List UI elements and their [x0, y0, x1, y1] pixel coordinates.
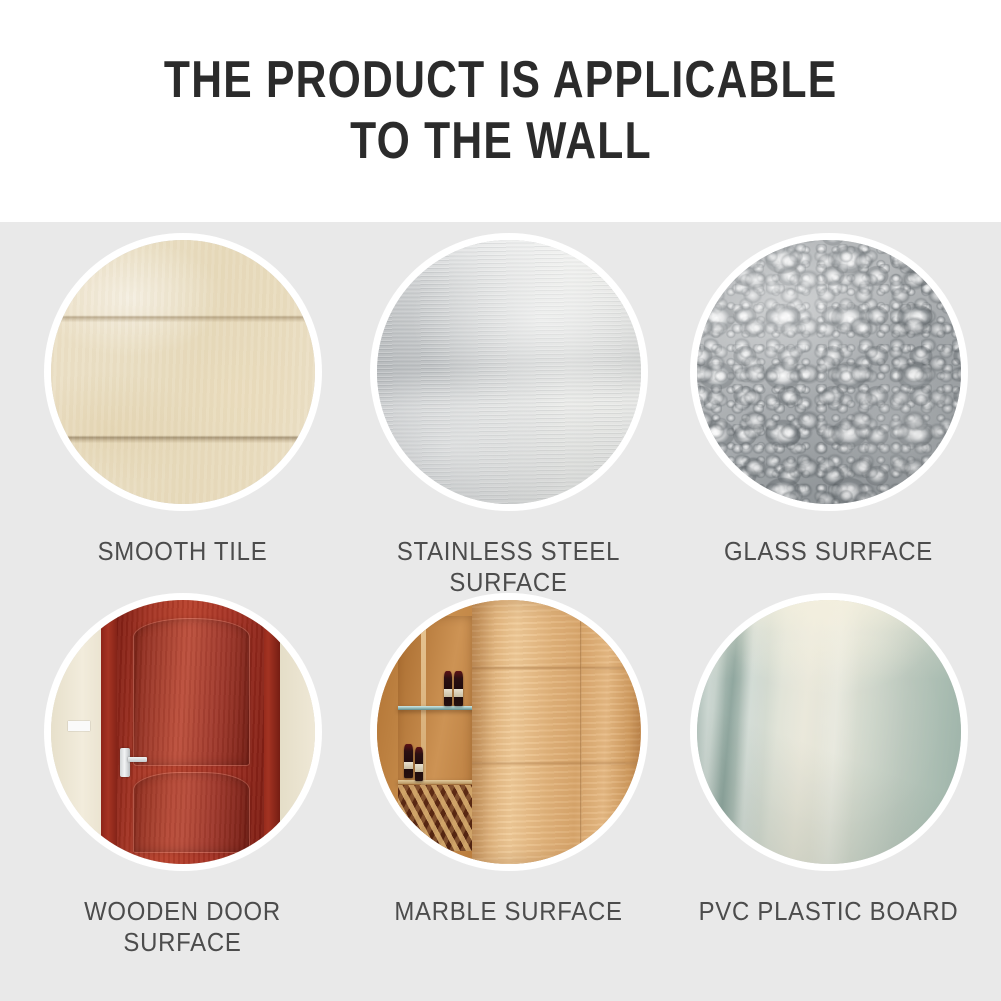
- door-slab: [117, 600, 265, 864]
- marble-column: [472, 600, 641, 864]
- marble-surface-texture: [377, 600, 641, 864]
- surface-image-wrapper: [377, 600, 641, 864]
- surface-card-wooden-door-surface: WOODEN DOOR SURFACE: [16, 600, 349, 960]
- product-infographic: THE PRODUCT IS APPLICABLE TO THE WALL SM…: [0, 0, 1001, 1001]
- gloss-vignette: [697, 600, 961, 864]
- surface-disc-stainless-steel-surface: [377, 240, 641, 504]
- surface-disc-smooth-tile: [51, 240, 315, 504]
- surface-label-marble-surface: MARBLE SURFACE: [355, 896, 661, 927]
- surface-label-wooden-door-surface: WOODEN DOOR SURFACE: [29, 896, 335, 958]
- surface-label-stainless-steel-surface: STAINLESS STEEL SURFACE: [355, 536, 661, 598]
- shelf-lower: [398, 780, 477, 785]
- surfaces-panel: SMOOTH TILE STAINLESS STEEL SURFACE: [0, 222, 1001, 1001]
- door-lever-handle: [128, 757, 146, 762]
- wine-bottle: [454, 671, 462, 705]
- page-title-line-1: THE PRODUCT IS APPLICABLE: [164, 50, 838, 111]
- glass-surface-texture: [697, 240, 961, 504]
- surface-image-wrapper: [697, 240, 961, 504]
- surface-disc-pvc-plastic-board: [697, 600, 961, 864]
- surface-card-pvc-plastic-board: PVC PLASTIC BOARD: [662, 600, 995, 960]
- surface-disc-marble-surface: [377, 600, 641, 864]
- door-handle-plate: [120, 748, 130, 777]
- wall-right: [278, 600, 315, 864]
- surface-label-smooth-tile: SMOOTH TILE: [29, 536, 335, 567]
- page-title-line-2: TO THE WALL: [350, 111, 652, 172]
- surface-disc-glass-surface: [697, 240, 961, 504]
- glass-sheen: [697, 240, 961, 504]
- surface-image-wrapper: [697, 600, 961, 864]
- wine-bottle: [404, 744, 412, 778]
- surface-label-pvc-plastic-board: PVC PLASTIC BOARD: [675, 896, 981, 927]
- surface-disc-wooden-door-surface: [51, 600, 315, 864]
- surface-image-wrapper: [51, 600, 315, 864]
- surface-card-smooth-tile: SMOOTH TILE: [16, 240, 349, 600]
- light-switch: [68, 721, 90, 731]
- surface-label-glass-surface: GLASS SURFACE: [675, 536, 981, 567]
- wine-bottle: [444, 671, 452, 705]
- wine-rack: [398, 785, 477, 851]
- surface-card-stainless-steel-surface: STAINLESS STEEL SURFACE: [342, 240, 675, 600]
- surfaces-grid: SMOOTH TILE STAINLESS STEEL SURFACE: [0, 222, 1001, 1001]
- door-panel-bottom: [133, 772, 250, 853]
- surface-image-wrapper: [377, 240, 641, 504]
- marble-column-seam: [580, 600, 582, 864]
- wall-left: [51, 600, 104, 864]
- wooden-door-texture: [51, 600, 315, 864]
- smooth-tile-texture: [51, 240, 315, 504]
- surface-card-marble-surface: MARBLE SURFACE: [342, 600, 675, 960]
- surface-image-wrapper: [51, 240, 315, 504]
- header: THE PRODUCT IS APPLICABLE TO THE WALL: [0, 0, 1001, 222]
- glass-shelf-upper: [398, 706, 477, 711]
- door-panel-top: [133, 618, 250, 765]
- stainless-steel-texture: [377, 240, 641, 504]
- surface-card-glass-surface: GLASS SURFACE: [662, 240, 995, 600]
- wine-bottle: [415, 747, 423, 781]
- pvc-plastic-board-texture: [697, 600, 961, 864]
